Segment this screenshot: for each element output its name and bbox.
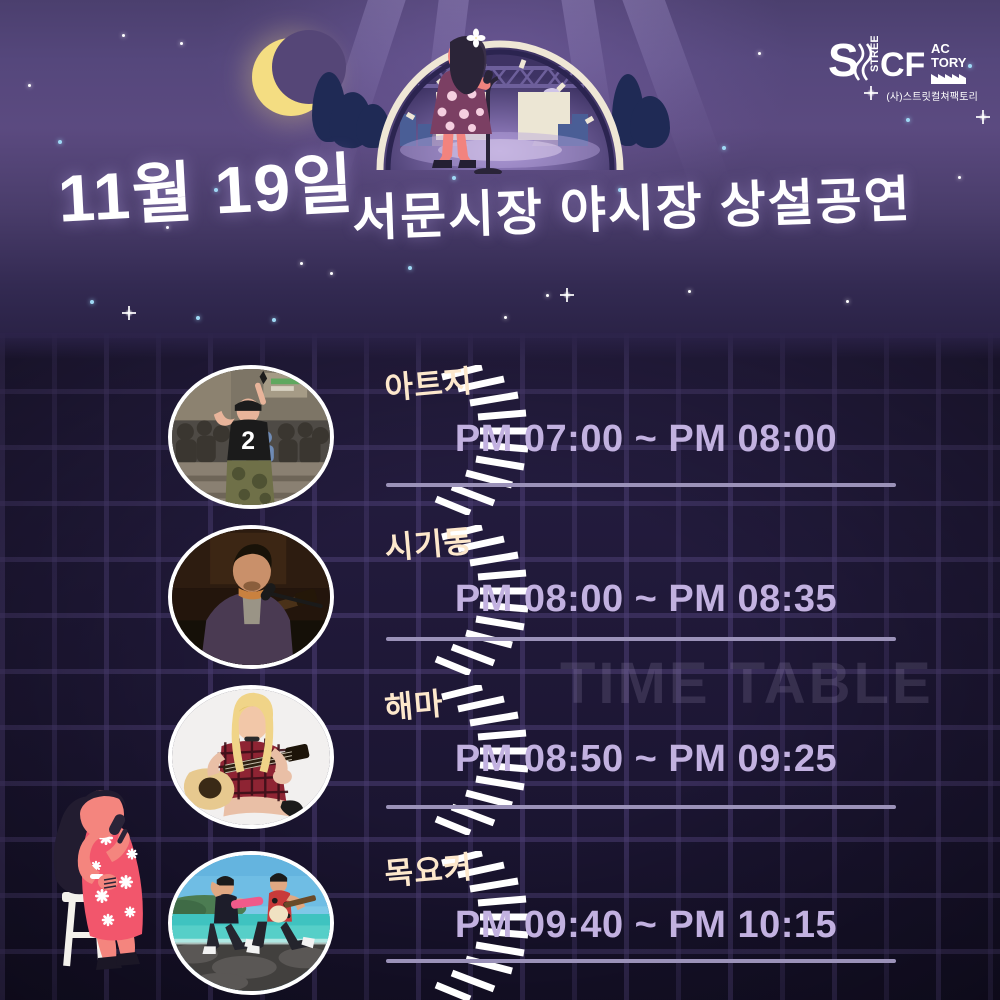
logo-ac-text: AC: [931, 41, 950, 56]
timetable-row[interactable]: 2 아트지 PM 07:00 ~ PM 08:00: [0, 355, 1000, 515]
artist-photo-frame: 2: [168, 365, 334, 509]
artist-name: 아트지: [383, 365, 474, 404]
artist-photo-frame: [168, 685, 334, 829]
artist-photo: 2: [168, 365, 334, 509]
row-divider: [386, 805, 896, 809]
star-icon: [28, 84, 31, 87]
artist-name: 시기동: [383, 525, 474, 564]
artist-info: 시기동 PM 08:00 ~ PM 08:35: [386, 533, 906, 618]
timetable-row[interactable]: 시기동 PM 08:00 ~ PM 08:35: [0, 515, 1000, 675]
artist-time: PM 07:00 ~ PM 08:00: [386, 420, 906, 458]
sscf-logo: S STREET CF AC TORY (사)스트릿컬쳐팩토리: [828, 36, 978, 108]
logo-letter-s: S: [828, 36, 859, 86]
star-icon: [272, 318, 276, 322]
artist-photo-frame: [168, 851, 334, 995]
artist-time: PM 09:40 ~ PM 10:15: [386, 906, 906, 944]
star-icon: [546, 294, 549, 297]
poster-canvas: S STREET CF AC TORY (사)스트릿컬쳐팩토리 11월 19일 …: [0, 0, 1000, 1000]
date-title: 11월 19일: [56, 150, 356, 231]
artist-name: 해마: [383, 688, 445, 724]
logo-tory-text: TORY: [931, 55, 967, 70]
event-title: 서문시장 야시장 상설공연: [351, 174, 912, 244]
logo-cf-text: CF: [880, 46, 925, 84]
artist-photo: [168, 685, 334, 829]
artist-time: PM 08:50 ~ PM 09:25: [386, 740, 906, 778]
artist-info: 해마 PM 08:50 ~ PM 09:25: [386, 693, 906, 778]
star-icon: [90, 300, 94, 304]
artist-info: 아트지 PM 07:00 ~ PM 08:00: [386, 373, 906, 458]
star-icon: [906, 118, 910, 122]
artist-photo: [168, 525, 334, 669]
timetable: 2 아트지 PM 07:00 ~ PM 08:00: [0, 333, 1000, 1000]
star-icon: [722, 146, 726, 150]
star-icon: [504, 316, 507, 319]
star-icon: [196, 316, 200, 320]
dome-stage-illustration: [372, 22, 628, 174]
artist-info: 목요커 PM 09:40 ~ PM 10:15: [386, 859, 906, 944]
logo-mark: S STREET CF AC TORY: [828, 36, 978, 86]
artist-photo: [168, 851, 334, 995]
row-divider: [386, 483, 896, 487]
star-icon: [846, 300, 849, 303]
star-icon: [180, 42, 183, 45]
row-divider: [386, 959, 896, 963]
timetable-row[interactable]: 해마 PM 08:50 ~ PM 09:25: [0, 675, 1000, 835]
factory-icon: [931, 74, 966, 84]
star-icon: [58, 140, 62, 144]
sparkle-icon: [560, 288, 574, 302]
sparkle-icon: [122, 306, 136, 320]
timetable-row[interactable]: 목요커 PM 09:40 ~ PM 10:15: [0, 841, 1000, 1000]
artist-photo-frame: [168, 525, 334, 669]
logo-korean-name: (사)스트릿컬쳐팩토리: [828, 88, 978, 103]
title-block: 11월 19일 서문시장 야시장 상설공연: [0, 158, 1000, 268]
sparkle-icon: [976, 110, 990, 124]
artist-time: PM 08:00 ~ PM 08:35: [386, 580, 906, 618]
star-icon: [122, 34, 125, 37]
row-divider: [386, 637, 896, 641]
artist-name: 목요커: [383, 851, 474, 890]
star-icon: [688, 290, 691, 293]
svg-text:2: 2: [241, 428, 255, 455]
star-icon: [758, 52, 761, 55]
star-icon: [330, 272, 333, 275]
